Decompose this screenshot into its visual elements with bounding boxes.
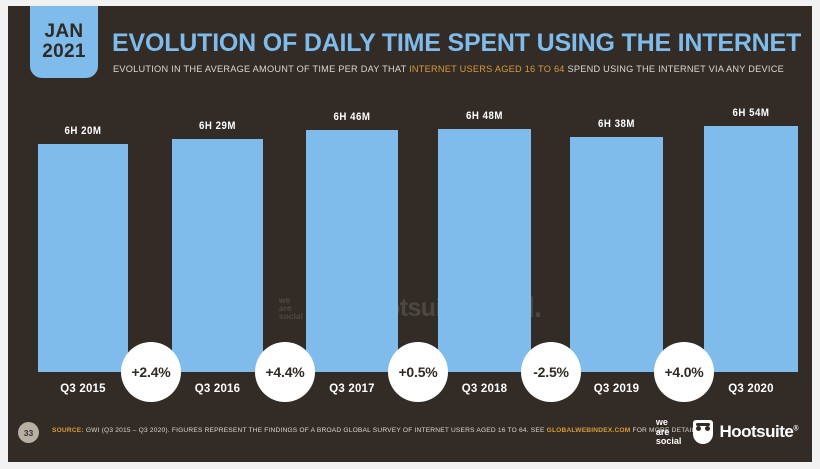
change-badge-1: +2.4%	[121, 342, 181, 402]
bar-chart: 6H 20MQ3 20156H 29MQ3 20166H 46MQ3 20176…	[8, 6, 812, 462]
category-label-3: Q3 2017	[306, 383, 398, 395]
change-badge-5: +4.0%	[654, 342, 714, 402]
registered-mark: ®	[793, 426, 798, 433]
bar-1	[38, 144, 128, 372]
bar-3	[306, 130, 398, 372]
owl-shield-icon	[693, 420, 713, 444]
bar-value-label-4: 6H 48M	[444, 110, 526, 122]
change-badge-2: +4.4%	[255, 342, 315, 402]
bar-6	[704, 126, 798, 372]
source-link[interactable]: GLOBALWEBINDEX.COM	[547, 427, 631, 434]
category-label-5: Q3 2019	[570, 383, 663, 395]
source-note: SOURCE: GWI (Q3 2015 – Q3 2020). FIGURES…	[52, 427, 702, 434]
category-label-2: Q3 2016	[172, 383, 263, 395]
we-are-social-line3: social	[656, 437, 682, 447]
we-are-social-logo: we are social	[656, 418, 682, 447]
slide-canvas: JAN 2021 EVOLUTION OF DAILY TIME SPENT U…	[8, 6, 812, 462]
hootsuite-wordmark: Hootsuite®	[719, 422, 798, 442]
bar-value-label-6: 6H 54M	[710, 107, 793, 119]
bar-4	[438, 129, 531, 372]
slide-frame: JAN 2021 EVOLUTION OF DAILY TIME SPENT U…	[0, 0, 820, 469]
hootsuite-logo: Hootsuite®	[693, 420, 798, 444]
change-badge-4: -2.5%	[521, 342, 581, 402]
hootsuite-text: Hootsuite	[719, 422, 793, 441]
source-text-1: GWI (Q3 2015 – Q3 2020). FIGURES REPRESE…	[84, 427, 547, 434]
bar-value-label-3: 6H 46M	[312, 111, 393, 123]
page-number-badge: 33	[18, 422, 39, 443]
bar-value-label-2: 6H 29M	[177, 120, 257, 132]
source-label: SOURCE:	[52, 427, 84, 434]
category-label-6: Q3 2020	[704, 383, 798, 395]
bar-value-label-1: 6H 20M	[43, 125, 122, 137]
footer-logos: we are social Hootsuite®	[656, 418, 798, 447]
category-label-4: Q3 2018	[438, 383, 531, 395]
slide-footer: 33 SOURCE: GWI (Q3 2015 – Q3 2020). FIGU…	[8, 410, 812, 462]
owl-brow-shape	[696, 423, 710, 426]
bar-2	[172, 139, 263, 372]
change-badge-3: +0.5%	[388, 342, 448, 402]
bar-value-label-5: 6H 38M	[576, 118, 658, 130]
category-label-1: Q3 2015	[38, 383, 128, 395]
bar-5	[570, 137, 663, 372]
